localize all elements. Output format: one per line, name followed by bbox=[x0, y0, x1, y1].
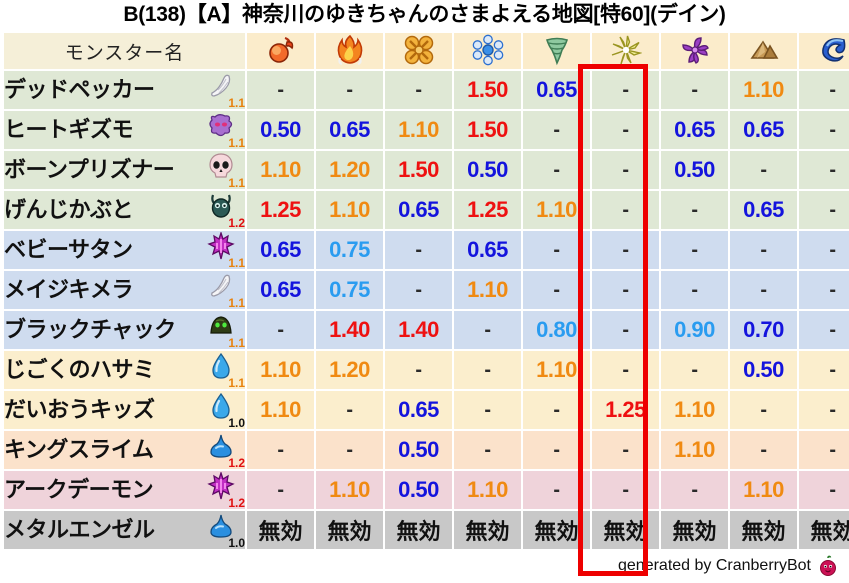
resistance-value-cell: 0.65 bbox=[385, 191, 452, 229]
resistance-value-cell: - bbox=[592, 471, 659, 509]
resistance-value-cell: - bbox=[799, 351, 849, 389]
monster-name-cell[interactable]: ヒートギズモ1.1 bbox=[4, 111, 245, 149]
resistance-value-cell: 1.10 bbox=[454, 471, 521, 509]
monster-name-label: デッドペッカー bbox=[4, 71, 155, 109]
resistance-value-cell: - bbox=[523, 151, 590, 189]
monster-name-wrap: だいおうキッズ1.0 bbox=[4, 391, 245, 429]
resistance-value-cell: - bbox=[799, 311, 849, 349]
resistance-value-cell: 0.75 bbox=[316, 231, 383, 269]
resistance-value-cell: - bbox=[799, 231, 849, 269]
resistance-value-cell: - bbox=[454, 351, 521, 389]
resistance-value-cell: 1.10 bbox=[247, 151, 314, 189]
resistance-value-cell: 1.40 bbox=[385, 311, 452, 349]
resistance-value-cell: 1.25 bbox=[454, 191, 521, 229]
dorma-darkflower-icon bbox=[678, 34, 712, 68]
resistance-value-cell: - bbox=[316, 71, 383, 109]
resistance-value-cell: - bbox=[661, 231, 728, 269]
resistance-value-cell: - bbox=[592, 191, 659, 229]
resistance-value-cell: 無効 bbox=[592, 511, 659, 549]
monster-name-label: キングスライム bbox=[4, 431, 153, 469]
dein-star-icon bbox=[609, 34, 643, 68]
monster-name-wrap: ヒートギズモ1.1 bbox=[4, 111, 245, 149]
resistance-value-cell: - bbox=[247, 71, 314, 109]
resistance-value-cell: 無効 bbox=[523, 511, 590, 549]
resistance-value-cell: - bbox=[592, 71, 659, 109]
monster-name-cell[interactable]: メタルエンゼル1.0 bbox=[4, 511, 245, 549]
monster-multiplier: 1.1 bbox=[228, 257, 245, 269]
resistance-value-cell: - bbox=[454, 391, 521, 429]
monster-multiplier: 1.1 bbox=[228, 137, 245, 149]
resistance-value-cell: 0.80 bbox=[523, 311, 590, 349]
monster-multiplier: 1.2 bbox=[228, 497, 245, 509]
table-row: デッドペッカー1.1---1.500.65--1.10- bbox=[4, 71, 849, 109]
resistance-value-cell: 0.70 bbox=[730, 311, 797, 349]
resistance-value-cell: - bbox=[730, 431, 797, 469]
resistance-value-cell: 0.65 bbox=[247, 271, 314, 309]
monster-name-wrap: キングスライム1.2 bbox=[4, 431, 245, 469]
resistance-value-cell: 0.50 bbox=[661, 151, 728, 189]
table-body: デッドペッカー1.1---1.500.65--1.10-ヒートギズモ1.10.5… bbox=[4, 71, 849, 549]
header-element-merazoma-wave[interactable] bbox=[799, 33, 849, 69]
resistance-table-wrapper: モンスター名 デッドペッカー1.1---1.500.65--1.10-ヒートギズ… bbox=[0, 31, 849, 551]
resistance-value-cell: 無効 bbox=[316, 511, 383, 549]
resistance-value-cell: 0.90 bbox=[661, 311, 728, 349]
resistance-value-cell: - bbox=[385, 231, 452, 269]
footer: generated by CranberryBot bbox=[618, 555, 839, 577]
monster-name-wrap: ボーンプリズナー1.1 bbox=[4, 151, 245, 189]
resistance-value-cell: 0.65 bbox=[661, 111, 728, 149]
resistance-value-cell: - bbox=[799, 391, 849, 429]
resistance-value-cell: 0.65 bbox=[316, 111, 383, 149]
page-title: B(138)【A】神奈川のゆきちゃんのさまよえる地図[特60](デイン) bbox=[0, 0, 849, 31]
table-row: アークデーモン1.2-1.100.501.10---1.10- bbox=[4, 471, 849, 509]
resistance-value-cell: - bbox=[247, 431, 314, 469]
resistance-value-cell: 0.75 bbox=[316, 271, 383, 309]
resistance-value-cell: 0.65 bbox=[523, 71, 590, 109]
monster-multiplier: 1.2 bbox=[228, 457, 245, 469]
monster-multiplier: 1.1 bbox=[228, 97, 245, 109]
resistance-value-cell: - bbox=[523, 231, 590, 269]
resistance-value-cell: 無効 bbox=[661, 511, 728, 549]
resistance-value-cell: - bbox=[799, 71, 849, 109]
resistance-value-cell: - bbox=[316, 391, 383, 429]
hyado-snowflake-icon bbox=[471, 34, 505, 68]
header-element-hyado-snowflake[interactable] bbox=[454, 33, 521, 69]
monster-name-cell[interactable]: デッドペッカー1.1 bbox=[4, 71, 245, 109]
table-head: モンスター名 bbox=[4, 33, 849, 69]
resistance-value-cell: 無効 bbox=[385, 511, 452, 549]
resistance-value-cell: - bbox=[385, 271, 452, 309]
table-row: メイジキメラ1.10.650.75-1.10----- bbox=[4, 271, 849, 309]
resistance-value-cell: - bbox=[592, 151, 659, 189]
monster-name-cell[interactable]: ベビーサタン1.1 bbox=[4, 231, 245, 269]
monster-family-box: 1.1 bbox=[205, 71, 245, 109]
resistance-value-cell: 1.10 bbox=[730, 71, 797, 109]
monster-name-cell[interactable]: ブラックチャック1.1 bbox=[4, 311, 245, 349]
resistance-value-cell: 0.50 bbox=[454, 151, 521, 189]
monster-multiplier: 1.2 bbox=[228, 217, 245, 229]
monster-name-wrap: じごくのハサミ1.1 bbox=[4, 351, 245, 389]
monster-family-box: 1.2 bbox=[205, 431, 245, 469]
monster-family-box: 1.1 bbox=[205, 351, 245, 389]
monster-name-wrap: ベビーサタン1.1 bbox=[4, 231, 245, 269]
monster-name-wrap: メタルエンゼル1.0 bbox=[4, 511, 245, 549]
resistance-value-cell: - bbox=[730, 151, 797, 189]
monster-name-label: ヒートギズモ bbox=[4, 111, 133, 149]
monster-name-cell[interactable]: だいおうキッズ1.0 bbox=[4, 391, 245, 429]
monster-family-box: 1.1 bbox=[205, 111, 245, 149]
resistance-value-cell: 1.10 bbox=[661, 391, 728, 429]
resistance-value-cell: 0.65 bbox=[454, 231, 521, 269]
resistance-value-cell: 1.10 bbox=[247, 351, 314, 389]
resistance-value-cell: - bbox=[385, 71, 452, 109]
table-row: じごくのハサミ1.11.101.20--1.10--0.50- bbox=[4, 351, 849, 389]
resistance-value-cell: - bbox=[247, 471, 314, 509]
monster-name-label: ボーンプリズナー bbox=[4, 151, 174, 189]
resistance-value-cell: 0.50 bbox=[247, 111, 314, 149]
resistance-value-cell: - bbox=[730, 231, 797, 269]
monster-family-box: 1.1 bbox=[205, 151, 245, 189]
monster-multiplier: 1.0 bbox=[228, 417, 245, 429]
monster-multiplier: 1.1 bbox=[228, 337, 245, 349]
resistance-value-cell: - bbox=[592, 111, 659, 149]
resistance-value-cell: - bbox=[799, 151, 849, 189]
header-element-gira-flame[interactable] bbox=[316, 33, 383, 69]
monster-family-box: 1.2 bbox=[205, 191, 245, 229]
monster-family-box: 1.0 bbox=[205, 391, 245, 429]
table-header-row: モンスター名 bbox=[4, 33, 849, 69]
header-element-dein-star[interactable] bbox=[592, 33, 659, 69]
resistance-value-cell: - bbox=[799, 111, 849, 149]
resistance-value-cell: - bbox=[454, 431, 521, 469]
jibaria-earth-icon bbox=[747, 34, 781, 68]
resistance-value-cell: 0.50 bbox=[385, 471, 452, 509]
monster-family-box: 1.1 bbox=[205, 271, 245, 309]
resistance-table: モンスター名 デッドペッカー1.1---1.500.65--1.10-ヒートギズ… bbox=[2, 31, 849, 551]
merazoma-wave-icon bbox=[816, 34, 849, 68]
io-explosion-icon bbox=[402, 34, 436, 68]
table-row: ボーンプリズナー1.11.101.201.500.50--0.50-- bbox=[4, 151, 849, 189]
table-row: キングスライム1.2--0.50---1.10-- bbox=[4, 431, 849, 469]
monster-name-cell[interactable]: じごくのハサミ1.1 bbox=[4, 351, 245, 389]
resistance-value-cell: - bbox=[523, 391, 590, 429]
monster-name-wrap: メイジキメラ1.1 bbox=[4, 271, 245, 309]
resistance-value-cell: 1.10 bbox=[316, 191, 383, 229]
resistance-value-cell: 1.10 bbox=[247, 391, 314, 429]
resistance-value-cell: 1.25 bbox=[592, 391, 659, 429]
monster-name-label: げんじかぶと bbox=[4, 191, 133, 229]
monster-multiplier: 1.0 bbox=[228, 537, 245, 549]
resistance-value-cell: 0.50 bbox=[385, 431, 452, 469]
monster-name-wrap: げんじかぶと1.2 bbox=[4, 191, 245, 229]
resistance-value-cell: 0.65 bbox=[730, 191, 797, 229]
footer-credit-text: generated by CranberryBot bbox=[618, 557, 811, 575]
resistance-value-cell: 無効 bbox=[454, 511, 521, 549]
resistance-value-cell: - bbox=[523, 111, 590, 149]
monster-name-wrap: アークデーモン1.2 bbox=[4, 471, 245, 509]
monster-name-label: メイジキメラ bbox=[4, 271, 133, 309]
header-monster-name: モンスター名 bbox=[4, 33, 245, 69]
monster-name-label: だいおうキッズ bbox=[4, 391, 155, 429]
resistance-value-cell: - bbox=[523, 271, 590, 309]
header-element-dorma-darkflower[interactable] bbox=[661, 33, 728, 69]
resistance-value-cell: - bbox=[523, 471, 590, 509]
resistance-value-cell: 0.50 bbox=[730, 351, 797, 389]
gira-flame-icon bbox=[333, 34, 367, 68]
resistance-value-cell: - bbox=[316, 431, 383, 469]
resistance-value-cell: - bbox=[661, 271, 728, 309]
resistance-value-cell: - bbox=[592, 431, 659, 469]
resistance-value-cell: - bbox=[592, 311, 659, 349]
monster-name-cell[interactable]: ボーンプリズナー1.1 bbox=[4, 151, 245, 189]
resistance-value-cell: 1.50 bbox=[454, 71, 521, 109]
header-element-io-explosion[interactable] bbox=[385, 33, 452, 69]
resistance-value-cell: 無効 bbox=[730, 511, 797, 549]
monster-name-cell[interactable]: メイジキメラ1.1 bbox=[4, 271, 245, 309]
monster-family-box: 1.1 bbox=[205, 311, 245, 349]
monster-name-cell[interactable]: アークデーモン1.2 bbox=[4, 471, 245, 509]
monster-name-label: じごくのハサミ bbox=[4, 351, 155, 389]
header-element-bagi-tornado[interactable] bbox=[523, 33, 590, 69]
header-element-meragi-fireball[interactable] bbox=[247, 33, 314, 69]
monster-family-box: 1.0 bbox=[205, 511, 245, 549]
table-row: だいおうキッズ1.01.10-0.65--1.251.10-- bbox=[4, 391, 849, 429]
resistance-value-cell: 0.65 bbox=[247, 231, 314, 269]
resistance-value-cell: - bbox=[661, 471, 728, 509]
resistance-value-cell: - bbox=[799, 431, 849, 469]
resistance-value-cell: 1.50 bbox=[454, 111, 521, 149]
resistance-value-cell: 0.65 bbox=[730, 111, 797, 149]
resistance-value-cell: 1.10 bbox=[523, 191, 590, 229]
resistance-value-cell: 1.10 bbox=[385, 111, 452, 149]
table-row: ブラックチャック1.1-1.401.40-0.80-0.900.70- bbox=[4, 311, 849, 349]
monster-family-box: 1.2 bbox=[205, 471, 245, 509]
resistance-value-cell: - bbox=[730, 391, 797, 429]
resistance-value-cell: 1.40 bbox=[316, 311, 383, 349]
resistance-value-cell: 0.65 bbox=[385, 391, 452, 429]
resistance-value-cell: 1.10 bbox=[730, 471, 797, 509]
resistance-value-cell: - bbox=[592, 271, 659, 309]
resistance-value-cell: - bbox=[661, 191, 728, 229]
resistance-value-cell: 1.20 bbox=[316, 351, 383, 389]
meragi-fireball-icon bbox=[264, 34, 298, 68]
resistance-value-cell: 1.10 bbox=[454, 271, 521, 309]
table-row: ベビーサタン1.10.650.75-0.65----- bbox=[4, 231, 849, 269]
resistance-value-cell: - bbox=[799, 271, 849, 309]
monster-name-cell[interactable]: げんじかぶと1.2 bbox=[4, 191, 245, 229]
table-row: げんじかぶと1.21.251.100.651.251.10--0.65- bbox=[4, 191, 849, 229]
monster-name-label: ベビーサタン bbox=[4, 231, 133, 269]
resistance-value-cell: 1.10 bbox=[316, 471, 383, 509]
resistance-value-cell: - bbox=[247, 311, 314, 349]
resistance-value-cell: - bbox=[523, 431, 590, 469]
monster-multiplier: 1.1 bbox=[228, 377, 245, 389]
resistance-value-cell: 1.50 bbox=[385, 151, 452, 189]
resistance-value-cell: 1.10 bbox=[661, 431, 728, 469]
monster-name-label: ブラックチャック bbox=[4, 311, 176, 349]
table-row: ヒートギズモ1.10.500.651.101.50--0.650.65- bbox=[4, 111, 849, 149]
monster-multiplier: 1.1 bbox=[228, 297, 245, 309]
resistance-value-cell: - bbox=[592, 351, 659, 389]
resistance-value-cell: - bbox=[799, 471, 849, 509]
monster-name-label: メタルエンゼル bbox=[4, 511, 155, 549]
monster-family-box: 1.1 bbox=[205, 231, 245, 269]
resistance-value-cell: 1.10 bbox=[523, 351, 590, 389]
cranberry-icon bbox=[817, 555, 839, 577]
resistance-value-cell: - bbox=[592, 231, 659, 269]
resistance-value-cell: 無効 bbox=[247, 511, 314, 549]
resistance-value-cell: 無効 bbox=[799, 511, 849, 549]
resistance-value-cell: - bbox=[661, 71, 728, 109]
resistance-value-cell: 1.20 bbox=[316, 151, 383, 189]
monster-name-wrap: ブラックチャック1.1 bbox=[4, 311, 245, 349]
resistance-value-cell: - bbox=[730, 271, 797, 309]
resistance-value-cell: 1.25 bbox=[247, 191, 314, 229]
resistance-value-cell: - bbox=[385, 351, 452, 389]
header-element-jibaria-earth[interactable] bbox=[730, 33, 797, 69]
monster-multiplier: 1.1 bbox=[228, 177, 245, 189]
resistance-value-cell: - bbox=[799, 191, 849, 229]
monster-name-cell[interactable]: キングスライム1.2 bbox=[4, 431, 245, 469]
table-row: メタルエンゼル1.0無効無効無効無効無効無効無効無効無効 bbox=[4, 511, 849, 549]
bagi-tornado-icon bbox=[540, 34, 574, 68]
resistance-value-cell: - bbox=[661, 351, 728, 389]
resistance-value-cell: - bbox=[454, 311, 521, 349]
monster-name-wrap: デッドペッカー1.1 bbox=[4, 71, 245, 109]
monster-name-label: アークデーモン bbox=[4, 471, 153, 509]
